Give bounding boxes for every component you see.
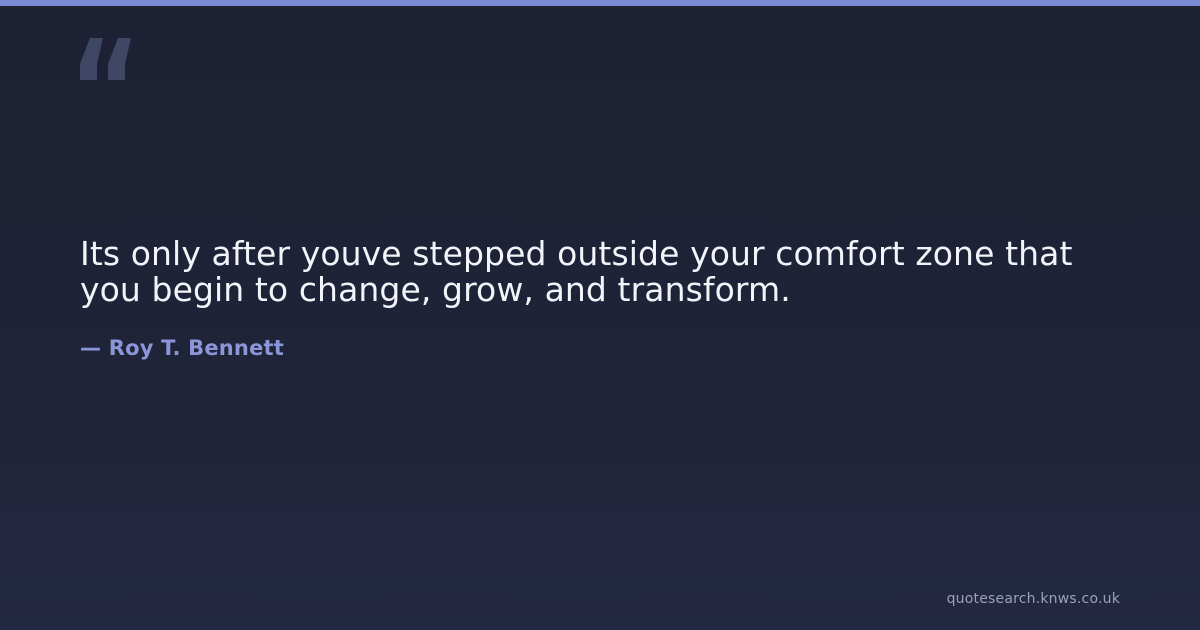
- source-url: quotesearch.knws.co.uk: [947, 590, 1120, 608]
- quote-content: Its only after youve stepped outside you…: [80, 236, 1128, 361]
- quote-card: Its only after youve stepped outside you…: [0, 0, 1200, 630]
- quote-text: Its only after youve stepped outside you…: [80, 236, 1128, 308]
- top-accent-bar: [0, 0, 1200, 6]
- open-quote-icon: [80, 38, 134, 80]
- quote-attribution: — Roy T. Bennett: [80, 308, 1128, 361]
